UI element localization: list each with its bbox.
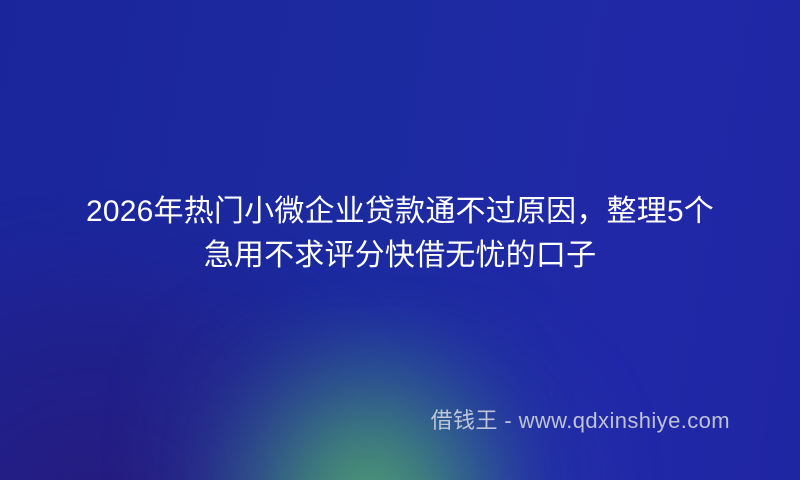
headline-line-1: 2026年热门小微企业贷款通不过原因，整理5个: [0, 190, 800, 234]
article-cover-banner: 2026年热门小微企业贷款通不过原因，整理5个 急用不求评分快借无忧的口子 借钱…: [0, 0, 800, 480]
headline-line-2: 急用不求评分快借无忧的口子: [0, 234, 800, 278]
background-green-glow: [205, 320, 535, 480]
watermark: 借钱王 - www.qdxinshiye.com: [431, 408, 730, 434]
headline: 2026年热门小微企业贷款通不过原因，整理5个 急用不求评分快借无忧的口子: [0, 190, 800, 278]
